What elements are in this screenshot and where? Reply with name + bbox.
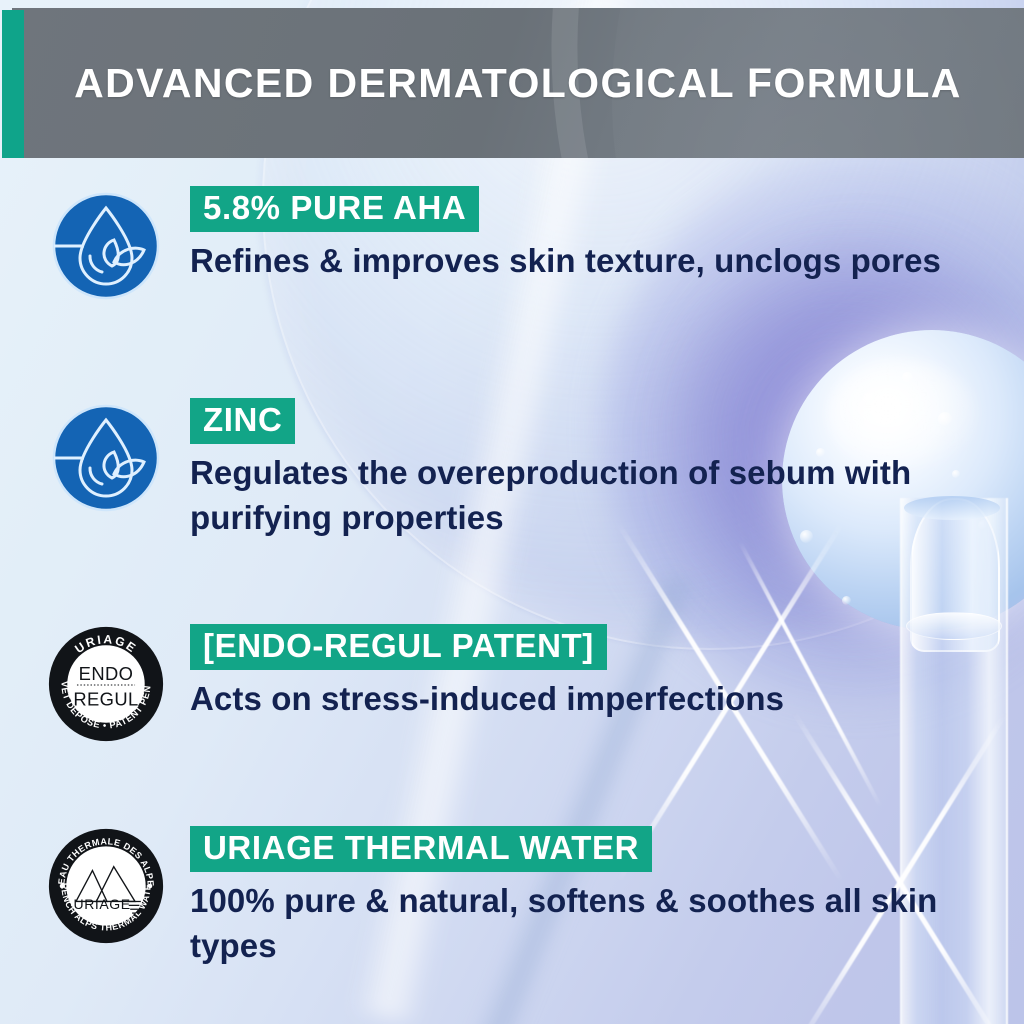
feature-icon-container: L'EAU THERMALE DES ALPES FRENCH ALPS THE… [46,826,166,946]
bubble-icon [902,372,913,383]
svg-text:URIAGE: URIAGE [74,896,131,912]
feature-icon-container [46,186,166,306]
header-banner: ADVANCED DERMATOLOGICAL FORMULA [12,8,1024,158]
feature-text-block: 5.8% PURE AHA Refines & improves skin te… [190,186,1000,283]
feature-text-block: URIAGE THERMAL WATER 100% pure & natural… [190,826,1000,969]
infographic-canvas: ADVANCED DERMATOLOGICAL FORMULA 5.8% PUR… [0,0,1024,1024]
header-accent-bar [2,10,24,158]
feature-icon-container [46,398,166,518]
feature-tag: 5.8% PURE AHA [190,186,479,232]
water-drop-leaf-icon [50,190,162,302]
page-title: ADVANCED DERMATOLOGICAL FORMULA [12,8,1024,158]
feature-tag: URIAGE THERMAL WATER [190,826,652,872]
feature-description: Regulates the overeproduction of sebum w… [190,450,980,541]
water-drop-leaf-icon [50,402,162,514]
feature-icon-container: URIAGE BREVET DÉPOSÉ • PATENT PENDING EN… [46,624,166,744]
bubble-icon [842,596,851,605]
feature-text-block: ZINC Regulates the overeproduction of se… [190,398,1000,541]
feature-description: 100% pure & natural, softens & soothes a… [190,878,980,969]
svg-text:REGUL: REGUL [73,688,138,709]
feature-description: Refines & improves skin texture, unclogs… [190,238,980,284]
uriage-thermal-water-seal-icon: L'EAU THERMALE DES ALPES FRENCH ALPS THE… [46,824,166,948]
endo-regul-seal-icon: URIAGE BREVET DÉPOSÉ • PATENT PENDING EN… [46,622,166,746]
feature-tag: [ENDO-REGUL PATENT] [190,624,607,670]
svg-text:ENDO: ENDO [79,663,134,684]
feature-description: Acts on stress-induced imperfections [190,676,980,722]
feature-tag: ZINC [190,398,295,444]
feature-text-block: [ENDO-REGUL PATENT] Acts on stress-induc… [190,624,1000,721]
